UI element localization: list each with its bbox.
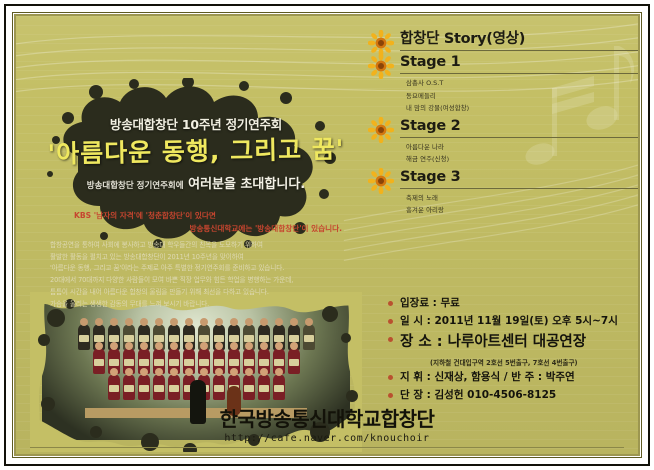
program-title: Stage 2	[400, 117, 640, 138]
detail-row-datetime: 일 시 : 2011년 11월 19일(토) 오후 5시~7시	[388, 315, 640, 329]
detail-separator: :	[433, 297, 441, 309]
kbs-tagline-line2: 방송통신대학교에는 '방송대합창단'이 있습니다.	[50, 223, 346, 236]
sunflower-icon	[368, 168, 394, 194]
description-line: 20대에서 70대까지 다양한 사람들이 모여 바쁜 직장 업무와 힘든 학업을…	[50, 275, 342, 287]
poster-canvas: 방송대합창단 10주년 정기연주회 '아름다운 동행, 그리고 꿈' 방송대합창…	[14, 14, 640, 456]
kbs-tagline: KBS '남자의 자격'에 '청춘합창단'이 있다면 방송통신대학교에는 '방송…	[50, 210, 346, 235]
program-title: Stage 1	[400, 53, 640, 74]
description-line: 가슴을 울리는 생생한 감동의 무대를 느껴 보시기 바랍니다.	[50, 299, 342, 311]
sunflower-icon	[368, 53, 394, 79]
detail-value: 신재상, 함용식 / 반 주 : 박주연	[435, 371, 575, 383]
detail-label: 입장료	[400, 297, 429, 309]
hero-invite-large: 여러분을 초대합니다.	[188, 177, 305, 192]
footer-divider	[30, 447, 624, 448]
program-subitem: 동요메들리	[406, 90, 640, 102]
sunflower-icon	[368, 30, 394, 56]
detail-separator: :	[427, 389, 435, 401]
hero-invite-small: 방송대합창단 정기연주회에	[87, 181, 184, 191]
hero-kicker: 방송대합창단 10주년 정기연주회	[46, 114, 346, 133]
detail-label: 단 장	[400, 389, 423, 401]
detail-label: 지 휘	[400, 371, 423, 383]
detail-label: 일 시	[400, 315, 423, 327]
hero-invite: 방송대합창단 정기연주회에 여러분을 초대합니다.	[46, 173, 346, 192]
program-subitem: 내 맘의 강물(여성합창)	[406, 102, 640, 114]
organization-name: 한국방송통신대학교합창단	[16, 403, 638, 432]
program-subitem: 삼총사 O.S.T	[406, 77, 640, 89]
hero-headline: '아름다운 동행, 그리고 꿈'	[46, 136, 346, 167]
description-line: 활발한 활동을 펼치고 있는 방송대합창단이 2011년 10주년을 맞이하여	[50, 252, 342, 264]
choir-row-middle	[42, 348, 350, 374]
detail-value: 2011년 11월 19일(토) 오후 5시~7시	[435, 315, 618, 327]
description-line: 합창공연을 통하여 사회에 봉사하고 방송대 학우들간의 친목을 도모하기 위하…	[50, 240, 342, 252]
program-subitems: 축제의 노래 흥겨운 아리랑	[400, 189, 640, 217]
detail-separator: :	[437, 334, 448, 350]
description-paragraph: 합창공연을 통하여 사회에 봉사하고 방송대 학우들간의 친목을 도모하기 위하…	[50, 240, 342, 310]
detail-row-fee: 입장료 : 무료	[388, 297, 640, 311]
detail-value: 나루아트센터 대공연장	[448, 334, 586, 350]
program-subitem: 해금 연주(신청)	[406, 153, 640, 165]
description-line: '아름다운 동행, 그리고 꿈'이라는 주제로 아주 특별한 정기연주회를 준비…	[50, 263, 342, 275]
sunflower-icon	[368, 117, 394, 143]
program-subitem: 흥겨운 아리랑	[406, 204, 640, 216]
program-item-stage-3[interactable]: Stage 3 축제의 노래 흥겨운 아리랑	[366, 168, 640, 217]
program-subitem: 축제의 노래	[406, 192, 640, 204]
program-item-stage-2[interactable]: Stage 2 아름다운 나라 해금 연주(신청)	[366, 117, 640, 166]
detail-separator: :	[427, 315, 435, 327]
detail-separator: :	[427, 371, 435, 383]
event-details: 입장료 : 무료 일 시 : 2011년 11월 19일(토) 오후 5시~7시…	[388, 297, 640, 407]
program-subitems: 삼총사 O.S.T 동요메들리 내 맘의 강물(여성합창)	[400, 74, 640, 114]
venue-transit-note: (지하철 건대입구역 2호선 5번출구, 7호선 4번출구)	[388, 357, 640, 367]
detail-row-director: 단 장 : 김성헌 010-4506-8125	[388, 389, 640, 403]
detail-row-venue: 장 소 : 나루아트센터 대공연장	[388, 333, 640, 352]
description-line: 틈틈이 시간을 내어 아름다운 합창의 울림을 만들기 위해 최선을 다하고 있…	[50, 287, 342, 299]
poster-footer: 한국방송통신대학교합창단 http://cafe.naver.com/knouc…	[16, 403, 638, 444]
program-item-story[interactable]: 합창단 Story(영상)	[366, 30, 640, 51]
detail-value: 무료	[441, 297, 460, 309]
detail-row-conductor: 지 휘 : 신재상, 함용식 / 반 주 : 박주연	[388, 371, 640, 385]
detail-value: 김성헌 010-4506-8125	[435, 389, 557, 401]
program-item-stage-1[interactable]: Stage 1 삼총사 O.S.T 동요메들리 내 맘의 강물(여성합창)	[366, 53, 640, 115]
program-subitems: 아름다운 나라 해금 연주(신청)	[400, 138, 640, 166]
choir-row-back	[42, 324, 350, 350]
cafe-url[interactable]: http://cafe.naver.com/knouchoir	[16, 433, 638, 444]
program-title: 합창단 Story(영상)	[400, 30, 640, 51]
detail-label: 장 소	[400, 334, 432, 350]
program-title: Stage 3	[400, 168, 640, 189]
kbs-tagline-line1: KBS '남자의 자격'에 '청춘합창단'이 있다면	[50, 210, 346, 223]
program-subitem: 아름다운 나라	[406, 141, 640, 153]
concert-poster: 방송대합창단 10주년 정기연주회 '아름다운 동행, 그리고 꿈' 방송대합창…	[0, 0, 654, 470]
program-list: 합창단 Story(영상) Stage 1	[366, 30, 640, 219]
